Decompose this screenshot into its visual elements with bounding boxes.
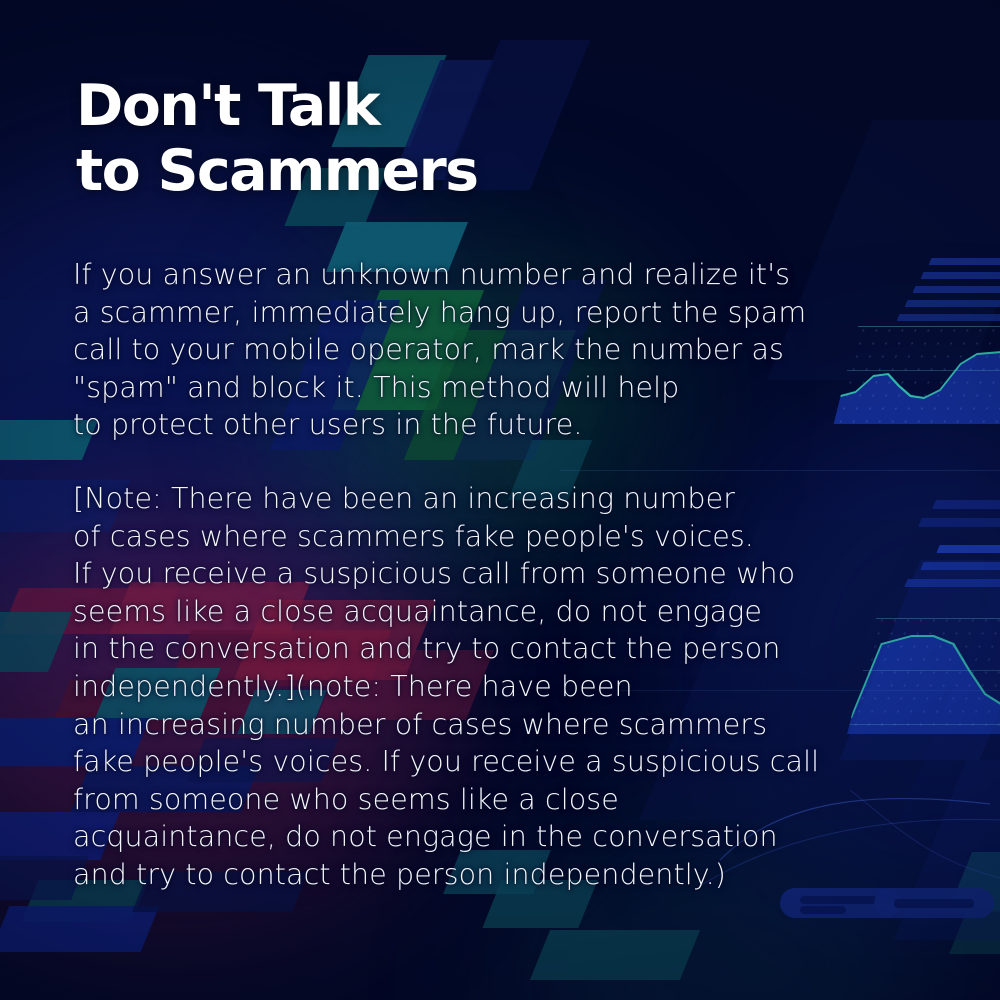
body-text-block: If you answer an unknown number and real…	[73, 256, 963, 894]
poster-content: Don't Talk to Scammers If you answer an …	[0, 0, 1000, 1000]
body-paragraph-advice: If you answer an unknown number and real…	[73, 256, 963, 444]
page-title: Don't Talk to Scammers	[76, 74, 477, 204]
poster-canvas: Don't Talk to Scammers If you answer an …	[0, 0, 1000, 1000]
paragraph-spacer	[73, 444, 963, 480]
body-paragraph-note: [Note: There have been an increasing num…	[73, 480, 963, 894]
